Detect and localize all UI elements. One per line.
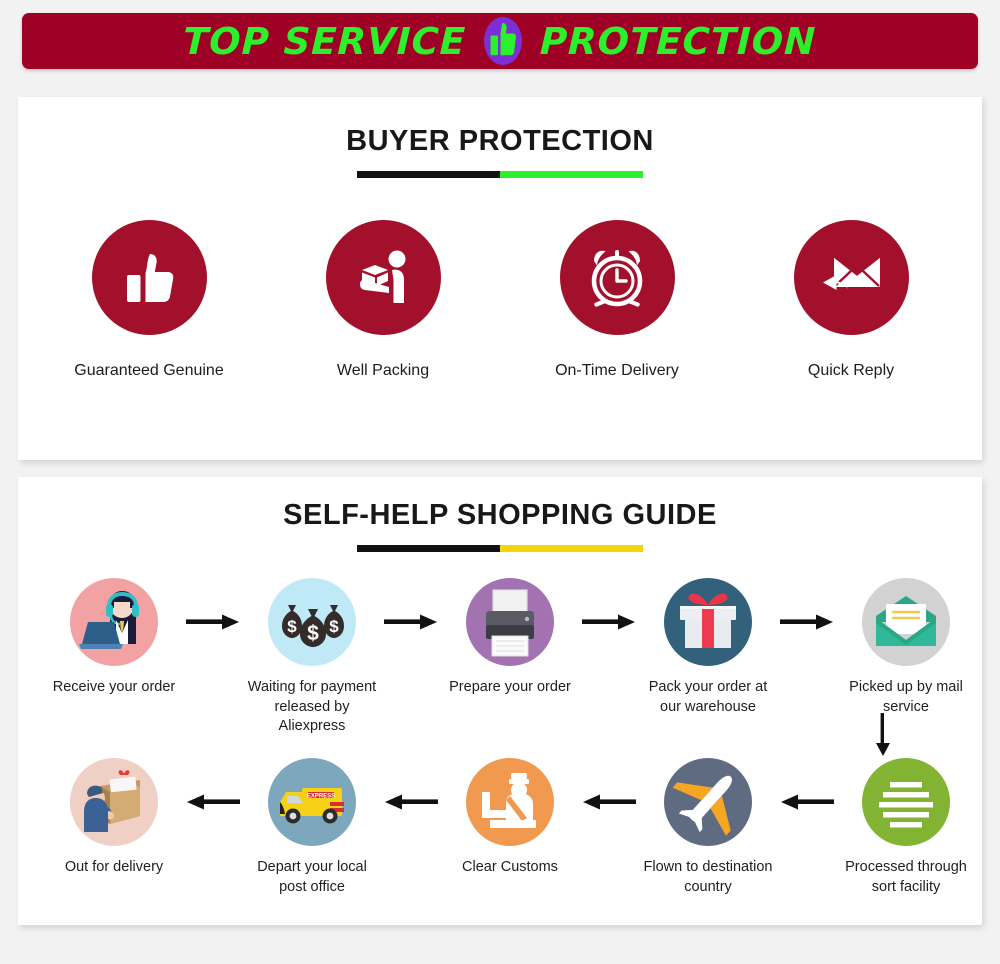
shopping-guide-flow-row-top: Receive your order — [44, 578, 960, 737]
banner-text-right: PROTECTION — [540, 23, 817, 60]
customs-officer-icon — [466, 758, 554, 846]
banner-text-left: TOP SERVICE — [183, 23, 467, 60]
mail-envelope-icon — [862, 578, 950, 666]
svg-text:$: $ — [329, 617, 339, 636]
shopping-guide-title: SELF-HELP SHOPPING GUIDE — [18, 500, 982, 532]
flow-step-receive-your-order: Receive your order — [44, 578, 184, 698]
flow-step-clear-customs: Clear Customs — [440, 758, 580, 878]
flow-step-label: Prepare your order — [440, 678, 580, 698]
feature-label: Well Packing — [278, 361, 488, 381]
arrow-right-icon — [184, 578, 242, 666]
title-rule-left-segment — [357, 171, 500, 178]
buyer-protection-card: BUYER PROTECTION Guaranteed Genuine — [18, 97, 982, 460]
feature-label: Quick Reply — [746, 361, 956, 381]
flow-step-picked-up-by-mail-service: Picked up by mail service — [836, 578, 976, 717]
title-rule-right-segment — [500, 171, 643, 178]
top-service-banner: TOP SERVICE PROTECTION — [22, 13, 978, 69]
flow-step-label: Receive your order — [44, 678, 184, 698]
arrow-left-icon — [382, 758, 440, 846]
arrow-left-icon — [580, 758, 638, 846]
buyer-protection-title: BUYER PROTECTION — [18, 126, 982, 158]
feature-well-packing: Well Packing — [278, 220, 488, 381]
flow-step-pack-your-order: Pack your order at our warehouse — [638, 578, 778, 717]
shopping-guide-title-rule — [357, 545, 643, 552]
thumbs-up-icon — [482, 13, 524, 69]
gift-box-icon — [664, 578, 752, 666]
hand-package-icon — [326, 220, 441, 335]
express-van-icon: EXPRESS — [268, 758, 356, 846]
flow-step-flown-to-destination-country: Flown to destination country — [638, 758, 778, 897]
sort-lines-icon — [862, 758, 950, 846]
feature-guaranteed-genuine: Guaranteed Genuine — [44, 220, 254, 381]
customer-service-agent-icon — [70, 578, 158, 666]
buyer-protection-title-rule — [357, 171, 643, 178]
arrow-right-icon — [778, 578, 836, 666]
arrow-left-icon — [778, 758, 836, 846]
flow-step-label: Pack your order at our warehouse — [638, 678, 778, 717]
thumbs-up-icon — [92, 220, 207, 335]
feature-label: Guaranteed Genuine — [44, 361, 254, 381]
arrow-right-icon — [580, 578, 638, 666]
printer-icon — [466, 578, 554, 666]
feature-on-time-delivery: On-Time Delivery — [512, 220, 722, 381]
flow-step-depart-your-local-post-office: EXPRESS Depart your local post office — [242, 758, 382, 897]
flow-step-prepare-your-order: Prepare your order — [440, 578, 580, 698]
page-root: TOP SERVICE PROTECTION BUYER PROTECTION — [0, 0, 1000, 964]
arrow-down-icon — [863, 713, 903, 757]
flow-step-label: Processed through sort facility — [836, 858, 976, 897]
buyer-protection-feature-list: Guaranteed Genuine Well Packing — [18, 220, 982, 381]
feature-label: On-Time Delivery — [512, 361, 722, 381]
title-rule-right-segment — [500, 545, 643, 552]
money-bags-icon: $ $ $ — [268, 578, 356, 666]
shopping-guide-flow-row-bottom: Out for delivery EXPRESS — [44, 758, 960, 897]
flow-step-waiting-for-payment: $ $ $ Waiting for payment released by Al… — [242, 578, 382, 737]
flow-step-label: Clear Customs — [440, 858, 580, 878]
shopping-guide-card: SELF-HELP SHOPPING GUIDE — [18, 477, 982, 925]
title-rule-left-segment — [357, 545, 500, 552]
flow-step-out-for-delivery: Out for delivery — [44, 758, 184, 878]
flow-step-label: Flown to destination country — [638, 858, 778, 897]
airplane-icon — [664, 758, 752, 846]
delivery-person-box-icon — [70, 758, 158, 846]
alarm-clock-icon — [560, 220, 675, 335]
svg-text:EXPRESS: EXPRESS — [307, 793, 335, 799]
buyer-protection-header: BUYER PROTECTION — [18, 97, 982, 178]
flow-step-processed-through-sort-facility: Processed through sort facility — [836, 758, 976, 897]
shopping-guide-header: SELF-HELP SHOPPING GUIDE — [18, 477, 982, 552]
arrow-right-icon — [382, 578, 440, 666]
flow-step-label: Picked up by mail service — [836, 678, 976, 717]
flow-step-label: Depart your local post office — [242, 858, 382, 897]
arrow-left-icon — [184, 758, 242, 846]
flow-step-label: Waiting for payment released by Aliexpre… — [242, 678, 382, 737]
flow-step-label: Out for delivery — [44, 858, 184, 878]
feature-quick-reply: Quick Reply — [746, 220, 956, 381]
svg-text:$: $ — [287, 617, 297, 636]
svg-text:$: $ — [307, 622, 319, 645]
envelope-reply-icon — [794, 220, 909, 335]
